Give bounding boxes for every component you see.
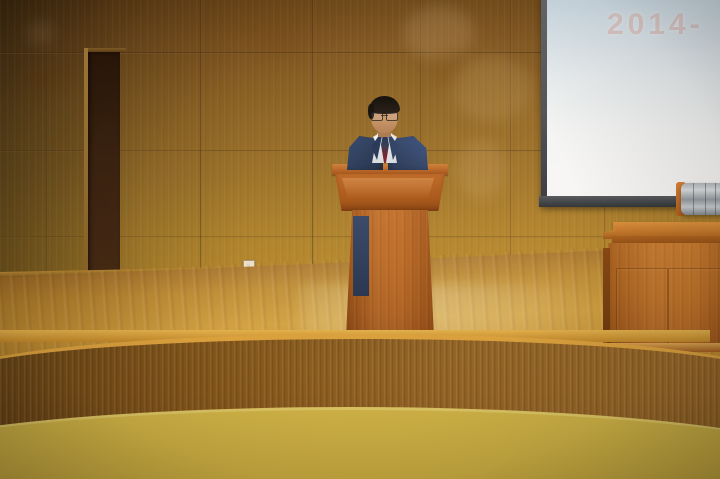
lectern-head-highlight [342,178,434,200]
metallic-cylinder [681,183,720,215]
screen-subline-text [565,62,715,74]
screen-headline-text: 2014- [607,8,704,42]
desk-top-ledge [613,222,720,237]
eyeglasses-bridge [381,115,388,116]
auditorium-floor [0,395,720,479]
photograph-scene: 2014- [0,0,720,479]
speaker-at-podium [345,96,435,170]
auditorium-floor-edge [0,407,720,479]
projection-screen: 2014- [547,0,720,196]
recessed-doorway [88,52,120,300]
speaker-trouser-leg [353,216,369,296]
